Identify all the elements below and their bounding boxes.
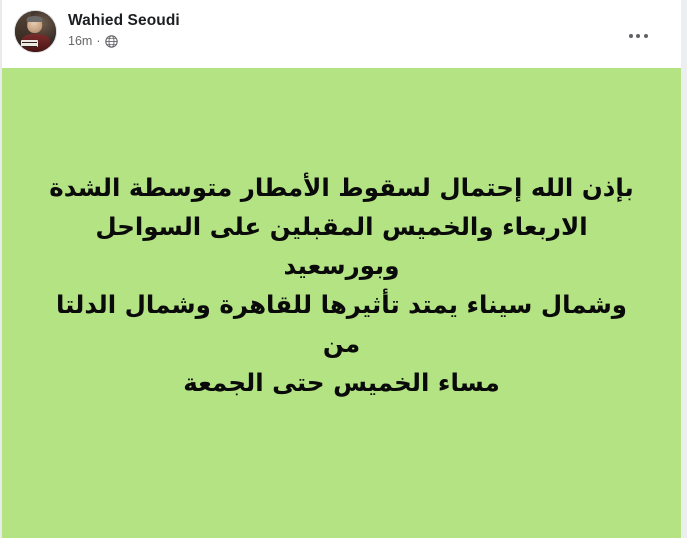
post-header-text: Wahied Seoudi 16m · (68, 8, 180, 49)
meta-separator-dot: · (96, 33, 100, 49)
avatar[interactable] (14, 10, 57, 53)
avatar-hair (26, 16, 43, 23)
ellipsis-dot-1 (629, 34, 633, 38)
post-header: Wahied Seoudi 16m · (2, 0, 681, 68)
post-menu-button[interactable] (621, 19, 655, 53)
globe-icon[interactable] (105, 35, 118, 48)
post-image[interactable]: بإذن الله إحتمال لسقوط الأمطار متوسطة ال… (2, 68, 681, 538)
post-image-text: بإذن الله إحتمال لسقوط الأمطار متوسطة ال… (42, 168, 642, 402)
ellipsis-dot-2 (636, 34, 640, 38)
ellipsis-dot-3 (644, 34, 648, 38)
post-timestamp[interactable]: 16m (68, 33, 92, 49)
facebook-post-card: Wahied Seoudi 16m · (0, 0, 687, 538)
author-name[interactable]: Wahied Seoudi (68, 11, 180, 30)
post-meta-row: 16m · (68, 33, 180, 49)
avatar-sign (21, 40, 38, 47)
